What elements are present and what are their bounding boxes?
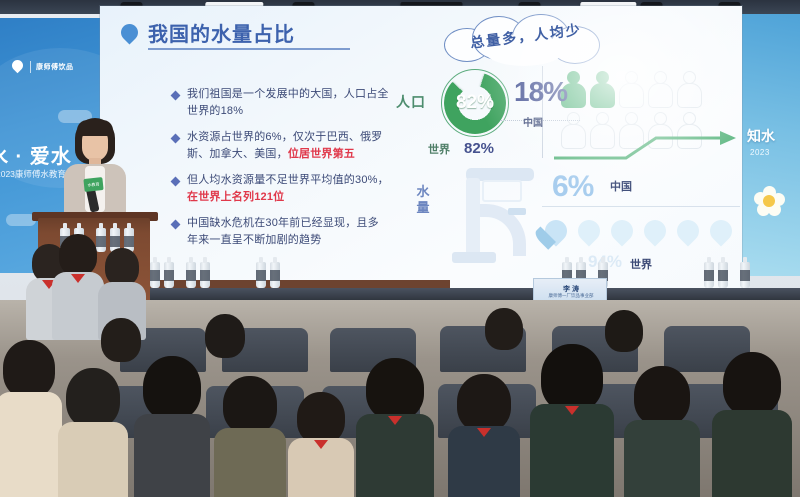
banner-logo: 康师傅饮品 <box>12 60 74 73</box>
water-drop-icon <box>610 218 635 246</box>
right-banner-year: 2023 <box>750 148 770 157</box>
projection-screen: 我国的水量占比 总量多，人均少 我们祖国是一个发展中的大国，人口占全世界的18% <box>100 6 742 304</box>
brand-name: 康师傅饮品 <box>36 62 74 72</box>
person-icon-outline <box>676 70 703 110</box>
population-donut-chart: 82% <box>444 72 506 134</box>
water-bottle <box>150 262 160 288</box>
bullet-diamond-icon <box>171 220 181 230</box>
china-population-value: 18% <box>514 76 567 108</box>
right-banner-title: 知水 <box>747 126 775 146</box>
highlight-text: 在世界上名列121位 <box>187 191 284 203</box>
audience-child <box>356 358 434 497</box>
water-drop-icon <box>577 218 602 246</box>
horizontal-divider <box>542 206 740 207</box>
water-bottle <box>200 262 210 288</box>
mic-flag: 水教育 <box>83 177 103 192</box>
audience-child <box>200 314 250 374</box>
population-label: 人口 <box>396 92 426 112</box>
name-card-org: 康师傅一厂饮品事业部 <box>534 293 608 299</box>
audience-area <box>0 300 800 497</box>
person-icon-outline <box>618 70 645 110</box>
bullet-list: 我们祖国是一个发展中的大国，人口占全世界的18% 水资源占世界的6%，仅次于巴西… <box>172 86 390 258</box>
water-drop-icon <box>120 22 139 44</box>
arrow-right-icon <box>552 116 740 162</box>
audience-child <box>214 376 286 497</box>
water-drop-icon <box>709 218 734 246</box>
list-item: 但人均水资源量不足世界平均值的30%，在世界上名列121位 <box>172 172 390 206</box>
world-water-label: 世界 <box>630 256 652 272</box>
bullet-text: 中国缺水危机在30年前已经显现，且多年来一直呈不断加剧的趋势 <box>187 215 390 249</box>
audience-child <box>288 392 354 497</box>
list-item: 中国缺水危机在30年前已经显现，且多年来一直呈不断加剧的趋势 <box>172 215 390 249</box>
faucet-icon <box>444 164 540 268</box>
bullet-diamond-icon <box>171 177 181 187</box>
audience-child <box>96 318 146 378</box>
slide-title: 我国的水量占比 <box>148 18 295 47</box>
highlight-text: 位居世界第五 <box>288 148 355 160</box>
world-population-row: 世界 82% <box>428 140 494 157</box>
water-drop-row <box>544 218 742 246</box>
stage-table-top <box>150 288 800 300</box>
rising-arrow-group <box>552 116 740 162</box>
water-bottle <box>186 262 196 288</box>
water-bottle <box>164 262 174 288</box>
china-water-value: 6% <box>552 170 593 204</box>
audience-child <box>58 368 128 497</box>
water-bottle <box>718 262 728 288</box>
person-icon-filled <box>589 70 616 110</box>
bullet-text: 我们祖国是一个发展中的大国，人口占全世界的18% <box>187 86 390 120</box>
person-icon-outline <box>647 70 674 110</box>
china-water-label: 中国 <box>610 178 632 194</box>
water-drop-icon <box>12 60 25 73</box>
bullet-diamond-icon <box>171 91 181 101</box>
name-card: 李 涛 康师傅一厂饮品事业部 <box>533 278 607 302</box>
audience-child <box>480 308 528 364</box>
water-drop-icon-filled <box>544 218 569 246</box>
water-bottle <box>704 262 714 288</box>
slide-title-row: 我国的水量占比 <box>120 18 295 47</box>
list-item: 我们祖国是一个发展中的大国，人口占全世界的18% <box>172 86 390 120</box>
list-item: 水资源占世界的6%，仅次于巴西、俄罗斯、加拿大、美国，位居世界第五 <box>172 129 390 163</box>
audience-child <box>448 374 520 497</box>
right-wall-banner: 知水 2023 <box>742 14 800 276</box>
water-bottle <box>256 262 266 288</box>
bullet-text: 但人均水资源量不足世界平均值的30%，在世界上名列121位 <box>187 172 390 206</box>
flower-icon <box>754 186 784 216</box>
china-population-label: 中国 <box>523 114 543 129</box>
audience-child <box>530 344 614 497</box>
donut-value: 82% <box>444 72 506 134</box>
audience-child <box>600 310 648 366</box>
bullet-diamond-icon <box>171 134 181 144</box>
title-underline <box>148 48 350 50</box>
water-bottle <box>270 262 280 288</box>
water-drop-icon <box>643 218 668 246</box>
water-bottle <box>740 262 750 288</box>
screenshot-root: 康师傅饮品 水 · 爱水 · 节水 2023康师傅水教育进校园活动 知水 202… <box>0 0 800 497</box>
logo-divider <box>30 61 31 73</box>
audience-child <box>0 340 62 497</box>
world-value: 82% <box>464 140 494 157</box>
water-drop-icon <box>676 218 701 246</box>
bullet-text: 水资源占世界的6%，仅次于巴西、俄罗斯、加拿大、美国，位居世界第五 <box>187 129 390 163</box>
audience-child <box>712 352 792 497</box>
water-volume-label: 水量 <box>414 184 432 217</box>
audience-child <box>624 366 700 497</box>
world-label: 世界 <box>428 141 450 157</box>
cloud-callout: 总量多，人均少 <box>438 12 610 66</box>
